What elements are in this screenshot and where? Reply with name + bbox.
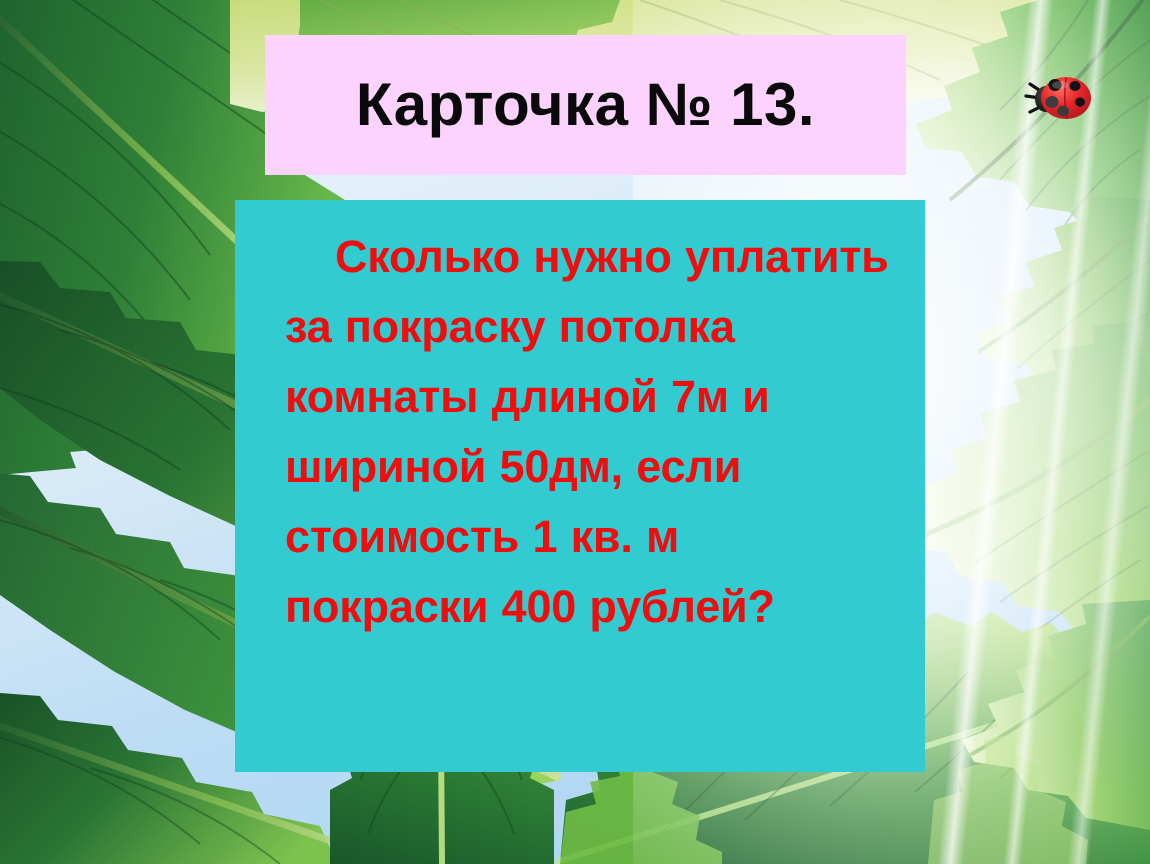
ladybug-icon bbox=[1022, 70, 1094, 128]
question-plate: Сколько нужно уплатить за покраску потол… bbox=[235, 200, 925, 772]
title-plate: Карточка № 13. bbox=[265, 35, 906, 175]
slide-canvas: Карточка № 13. Сколько нужно уплатить за… bbox=[0, 0, 1150, 864]
question-text: Сколько нужно уплатить за покраску потол… bbox=[285, 222, 893, 642]
page-title: Карточка № 13. bbox=[356, 75, 815, 135]
